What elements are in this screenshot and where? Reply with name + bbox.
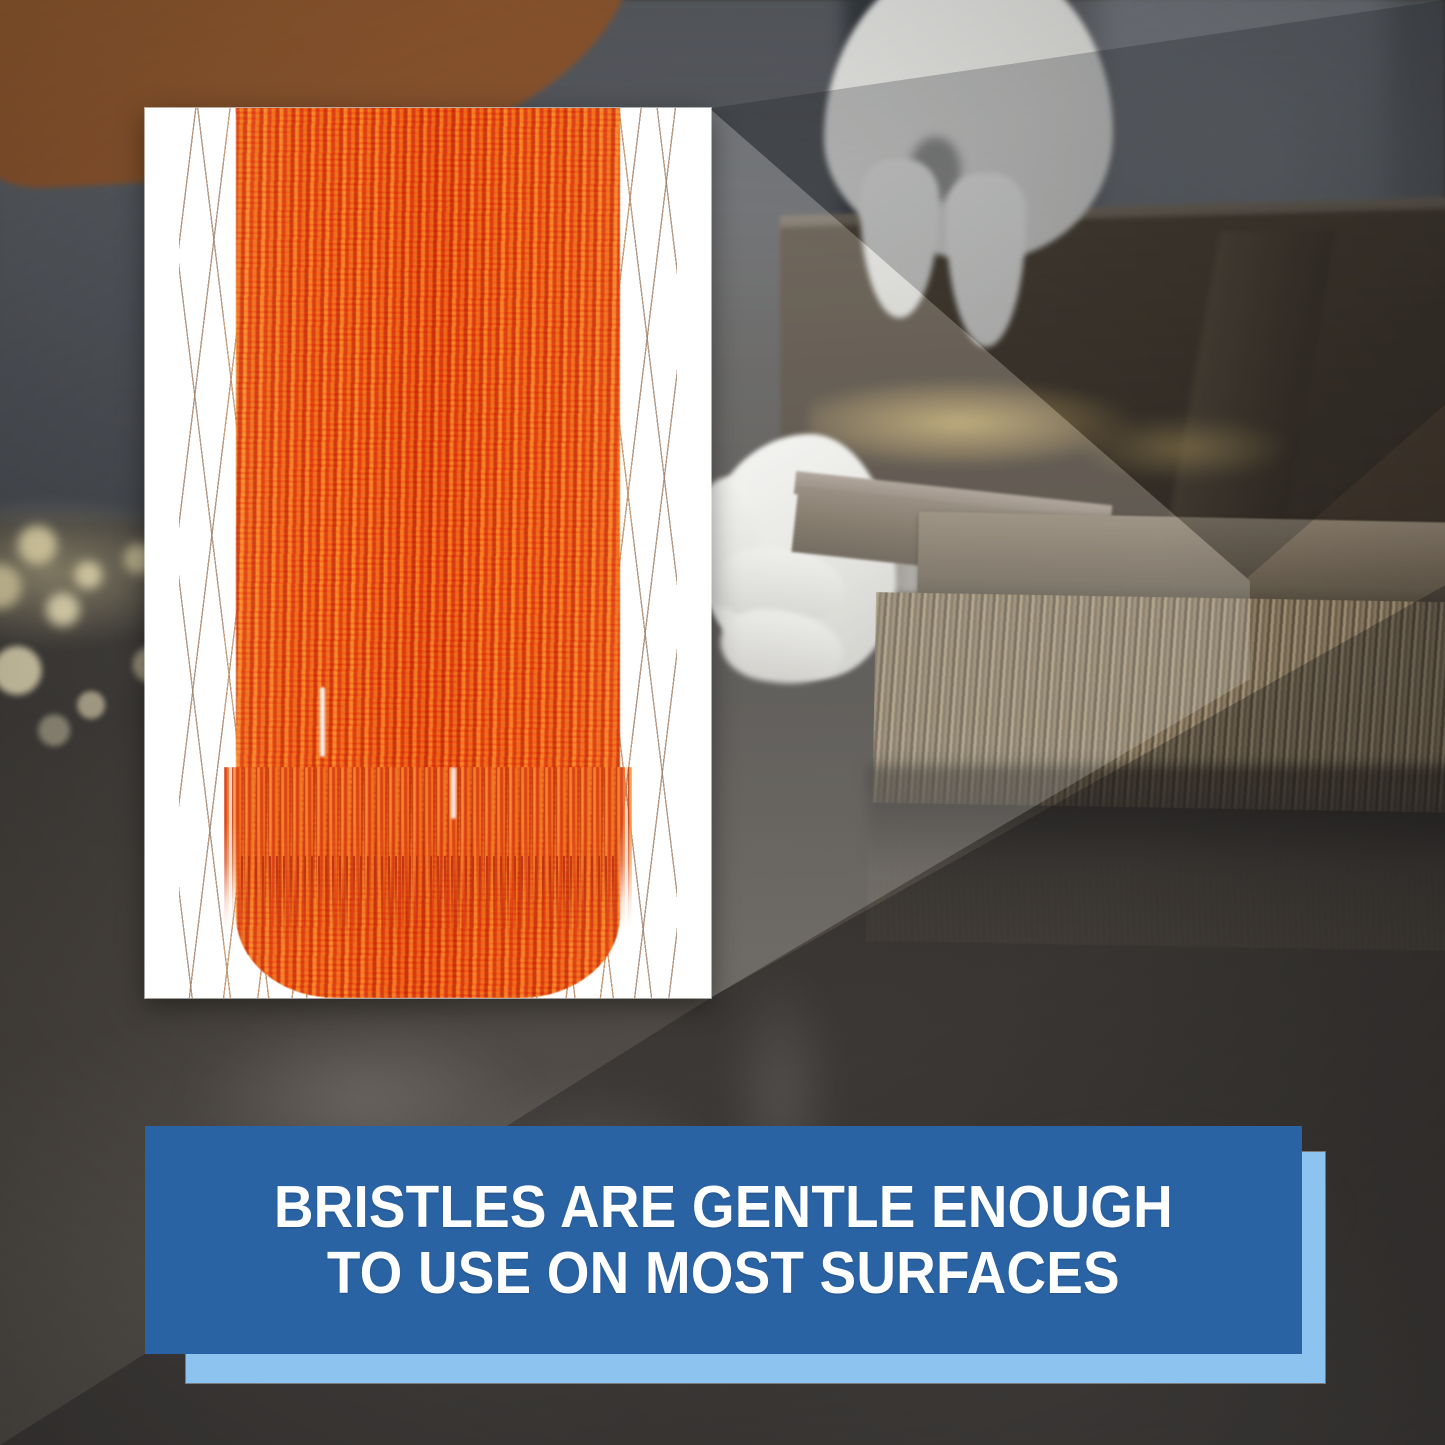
marketing-image-canvas: BRISTLES ARE GENTLE ENOUGH TO USE ON MOS… bbox=[0, 0, 1445, 1445]
bristle-gap-1 bbox=[320, 687, 325, 757]
inset-product-photo bbox=[145, 108, 711, 998]
caption-text: BRISTLES ARE GENTLE ENOUGH TO USE ON MOS… bbox=[250, 1174, 1197, 1306]
bristle-gap-2 bbox=[451, 767, 456, 819]
bristle-tips bbox=[241, 856, 615, 945]
orange-bristle-closeup bbox=[145, 108, 711, 998]
caption-banner: BRISTLES ARE GENTLE ENOUGH TO USE ON MOS… bbox=[145, 1126, 1302, 1354]
